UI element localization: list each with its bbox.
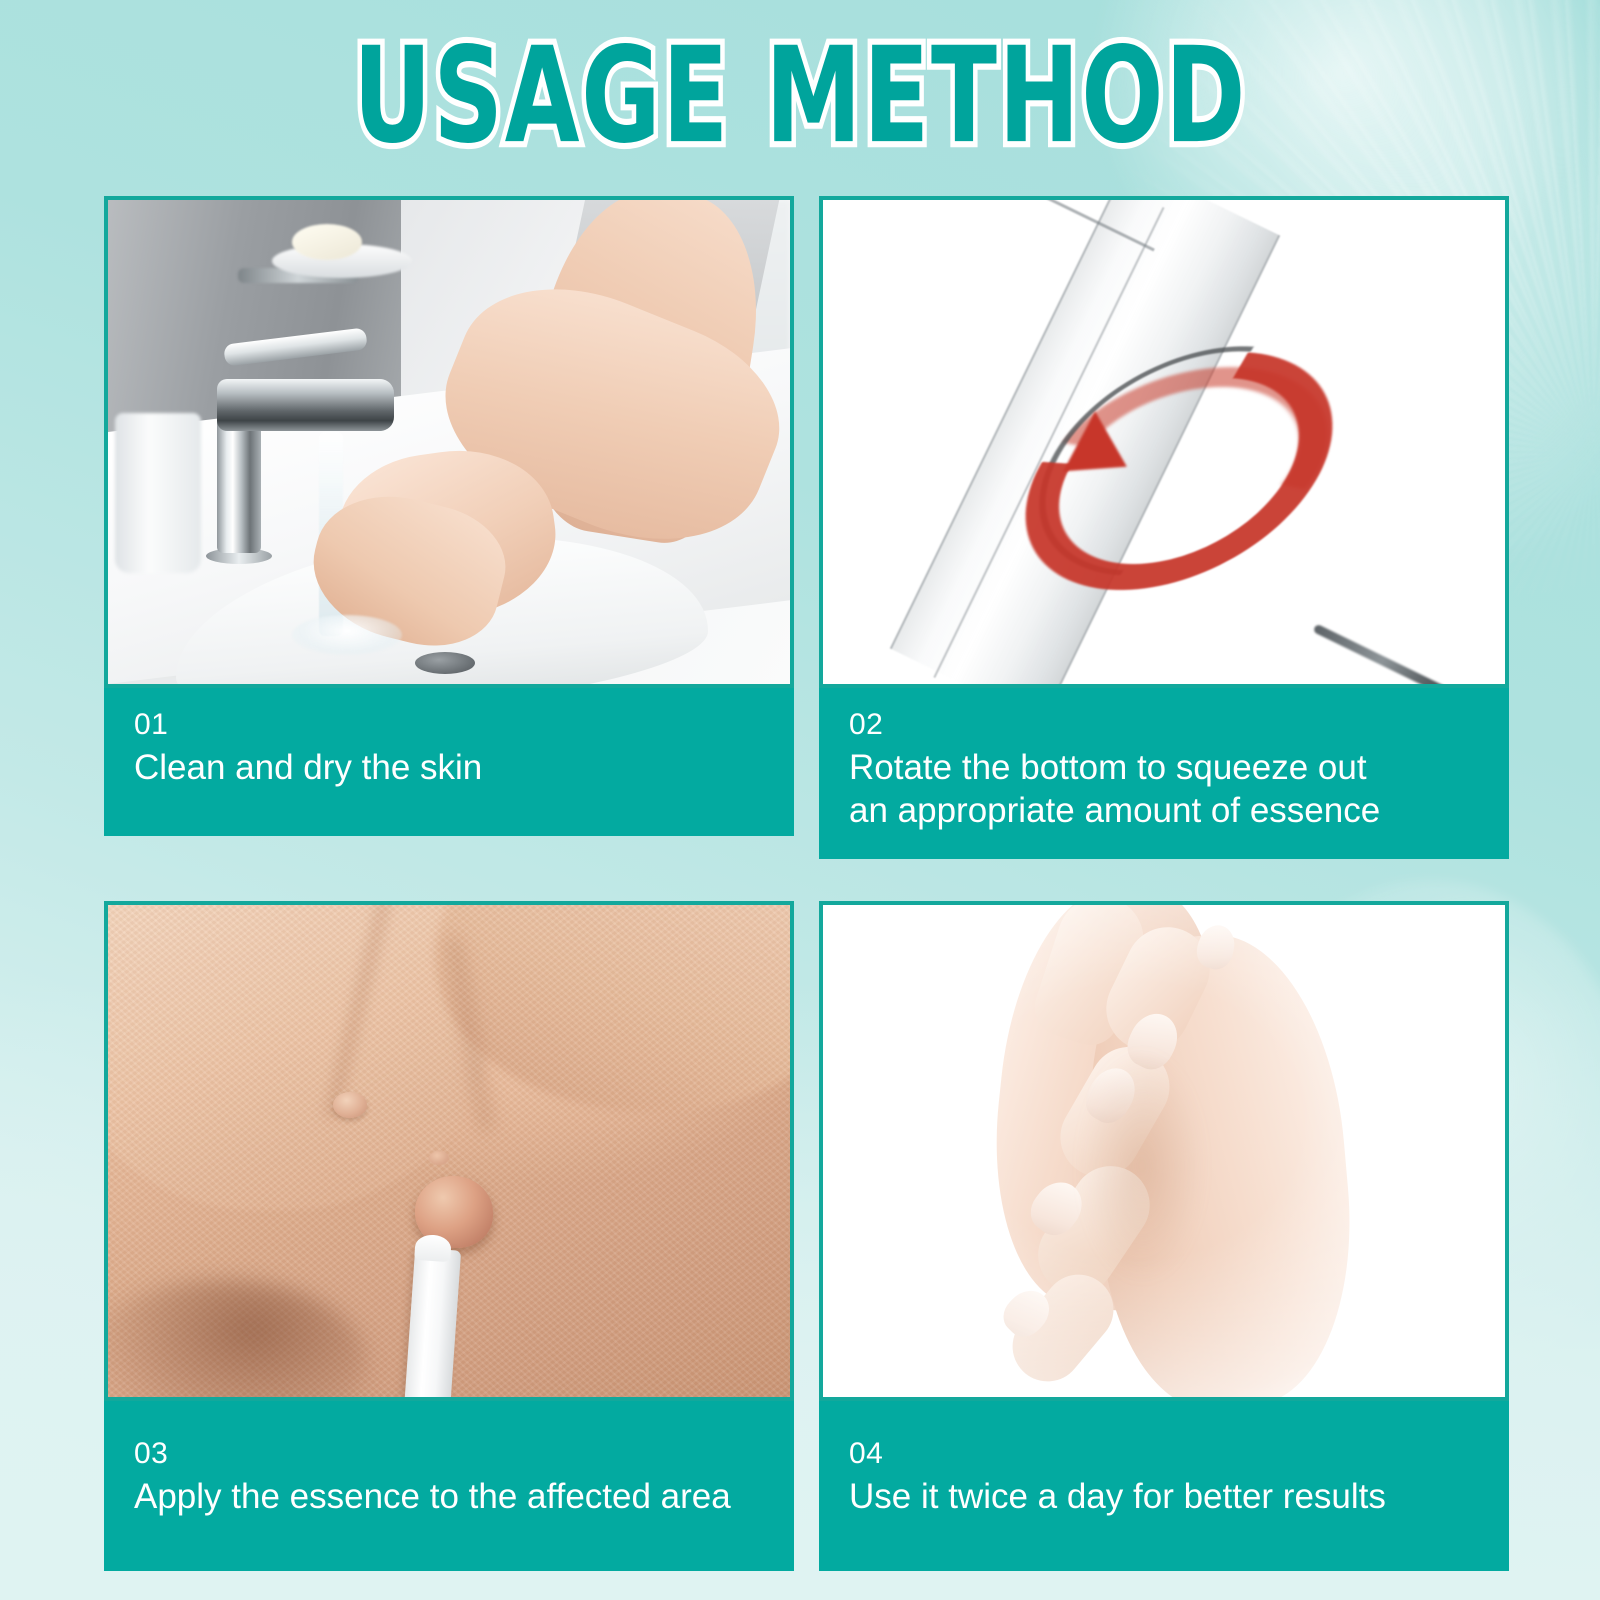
small-skin-bump: [333, 1092, 367, 1118]
step-03-photo-apply-essence: [104, 901, 794, 1401]
step-01-text: Clean and dry the skin: [134, 746, 772, 790]
step-02-caption: 02 Rotate the bottom to squeeze out an a…: [819, 688, 1509, 859]
page-title: USAGE METHOD: [353, 28, 1247, 163]
bathroom-cup: [115, 413, 201, 573]
soap-bar: [292, 224, 362, 260]
step-01-number: 01: [134, 706, 772, 744]
step-02-photo-rotate-tube: [819, 196, 1509, 688]
white-vignette: [823, 905, 1505, 1397]
page-header: USAGE METHOD: [0, 28, 1600, 148]
step-02-number: 02: [849, 706, 1487, 744]
usage-step-03: 03 Apply the essence to the affected are…: [104, 901, 794, 1571]
usage-step-02: 02 Rotate the bottom to squeeze out an a…: [819, 196, 1509, 859]
step-04-photo-smooth-hands: [819, 901, 1509, 1401]
tube-bottom-dial: [1313, 623, 1452, 688]
usage-step-04: 04 Use it twice a day for better results: [819, 901, 1509, 1571]
step-04-text: Use it twice a day for better results: [849, 1475, 1487, 1519]
usage-steps-grid: 01 Clean and dry the skin 02 Rotate the …: [104, 196, 1486, 1571]
step-01-caption: 01 Clean and dry the skin: [104, 688, 794, 836]
step-04-number: 04: [849, 1435, 1487, 1473]
faucet-spout: [217, 379, 394, 431]
water-splash: [292, 615, 402, 655]
usage-step-01: 01 Clean and dry the skin: [104, 196, 794, 859]
step-01-photo-hand-washing: [104, 196, 794, 688]
step-03-text: Apply the essence to the affected area: [134, 1475, 772, 1519]
step-03-number: 03: [134, 1435, 772, 1473]
step-04-caption: 04 Use it twice a day for better results: [819, 1401, 1509, 1571]
step-02-text: Rotate the bottom to squeeze out an appr…: [849, 746, 1487, 834]
tiny-skin-bump: [429, 1151, 449, 1165]
step-03-caption: 03 Apply the essence to the affected are…: [104, 1401, 794, 1571]
